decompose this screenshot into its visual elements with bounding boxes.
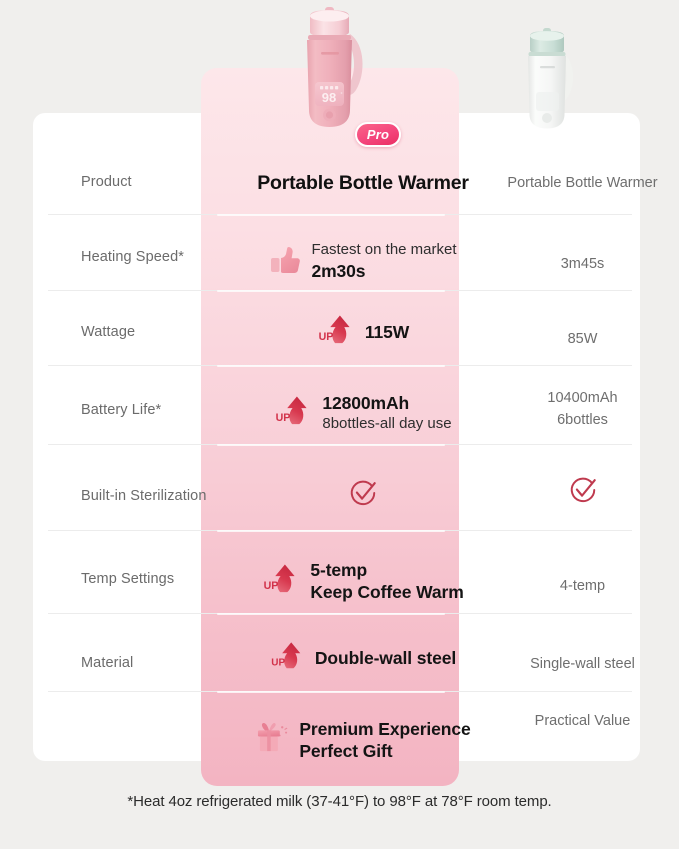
pro-battery-life-primary: 12800mAh <box>322 393 409 413</box>
std-value-battery-life: 10400mAh 6bottles <box>492 388 673 432</box>
std-value-temp-settings: 4-temp <box>492 576 673 598</box>
up-arrow-icon: UP <box>274 395 314 431</box>
footnote: *Heat 4oz refrigerated milk (37-41°F) to… <box>0 793 679 810</box>
std-value-experience: Practical Value <box>492 711 673 733</box>
pro-temp-settings-primary: 5-temp <box>310 560 367 580</box>
pro-experience-text: Premium Experience Perfect Gift <box>299 718 470 763</box>
pro-temp-settings-text: 5-temp Keep Coffee Warm <box>310 559 463 604</box>
svg-text:UP: UP <box>276 412 291 424</box>
svg-text:°: ° <box>341 92 343 98</box>
svg-text:UP: UP <box>264 580 279 592</box>
svg-text:98: 98 <box>322 90 336 105</box>
check-circle-icon <box>348 478 378 513</box>
row-label-material: Material <box>81 654 231 673</box>
pro-heating-speed-primary: 2m30s <box>311 261 365 281</box>
up-arrow-icon: UP <box>270 641 307 675</box>
pro-row-divider <box>217 613 445 615</box>
std-value-wattage: 85W <box>492 329 673 351</box>
pro-row-divider <box>217 691 445 693</box>
gift-icon <box>255 721 291 759</box>
pro-row-divider <box>217 444 445 446</box>
product-comparison-page: 98 ° <box>0 0 679 849</box>
row-label-sterilization: Built-in Sterilization <box>81 487 231 506</box>
pro-product-name: Portable Bottle Warmer <box>257 172 469 195</box>
pro-value-experience: Premium Experience Perfect Gift <box>234 709 492 771</box>
std-value-heating-speed: 3m45s <box>492 254 673 276</box>
pro-row-divider <box>217 214 445 216</box>
pro-battery-life-text: 12800mAh 8bottles-all day use <box>322 392 451 434</box>
pro-value-temp-settings: UP 5-temp Keep Coffee Warm <box>234 550 492 612</box>
pro-temp-settings-secondary: Keep Coffee Warm <box>310 582 463 602</box>
std-value-sterilization <box>492 475 673 513</box>
pro-heating-speed-text: Fastest on the market 2m30s <box>311 240 456 282</box>
std-value-product: Portable Bottle Warmer <box>492 173 673 195</box>
pro-value-sterilization <box>234 475 492 515</box>
pro-battery-life-secondary: 8bottles-all day use <box>322 415 451 432</box>
pro-heating-speed-secondary: Fastest on the market <box>311 241 456 258</box>
row-label-heating-speed: Heating Speed* <box>81 248 231 267</box>
check-circle-icon <box>568 475 598 513</box>
up-arrow-icon: UP <box>317 314 357 350</box>
row-label-product: Product <box>81 173 231 192</box>
up-arrow-icon: UP <box>262 563 302 599</box>
row-label-temp-settings: Temp Settings <box>81 570 231 589</box>
row-label-wattage: Wattage <box>81 323 231 342</box>
pro-experience-secondary: Perfect Gift <box>299 741 392 761</box>
pro-wattage-primary: 115W <box>365 321 409 343</box>
pro-experience-primary: Premium Experience <box>299 719 470 739</box>
thumbs-up-icon <box>269 243 303 280</box>
pro-row-divider <box>217 365 445 367</box>
pro-value-material: UP Double-wall steel <box>234 640 492 676</box>
pro-row-divider <box>217 530 445 532</box>
pro-value-product: Portable Bottle Warmer <box>234 168 492 198</box>
pro-value-heating-speed: Fastest on the market 2m30s <box>234 233 492 289</box>
svg-text:UP: UP <box>271 657 285 668</box>
pro-value-wattage: UP 115W <box>234 315 492 349</box>
comparison-rows: Product Portable Bottle Warmer Portable … <box>33 113 640 761</box>
pro-value-battery-life: UP 12800mAh 8bottles-all day use <box>234 383 492 443</box>
row-label-battery-life: Battery Life* <box>81 401 231 420</box>
pro-material-primary: Double-wall steel <box>315 647 456 669</box>
std-value-material: Single-wall steel <box>492 654 673 676</box>
svg-text:UP: UP <box>318 331 333 343</box>
pro-row-divider <box>217 290 445 292</box>
